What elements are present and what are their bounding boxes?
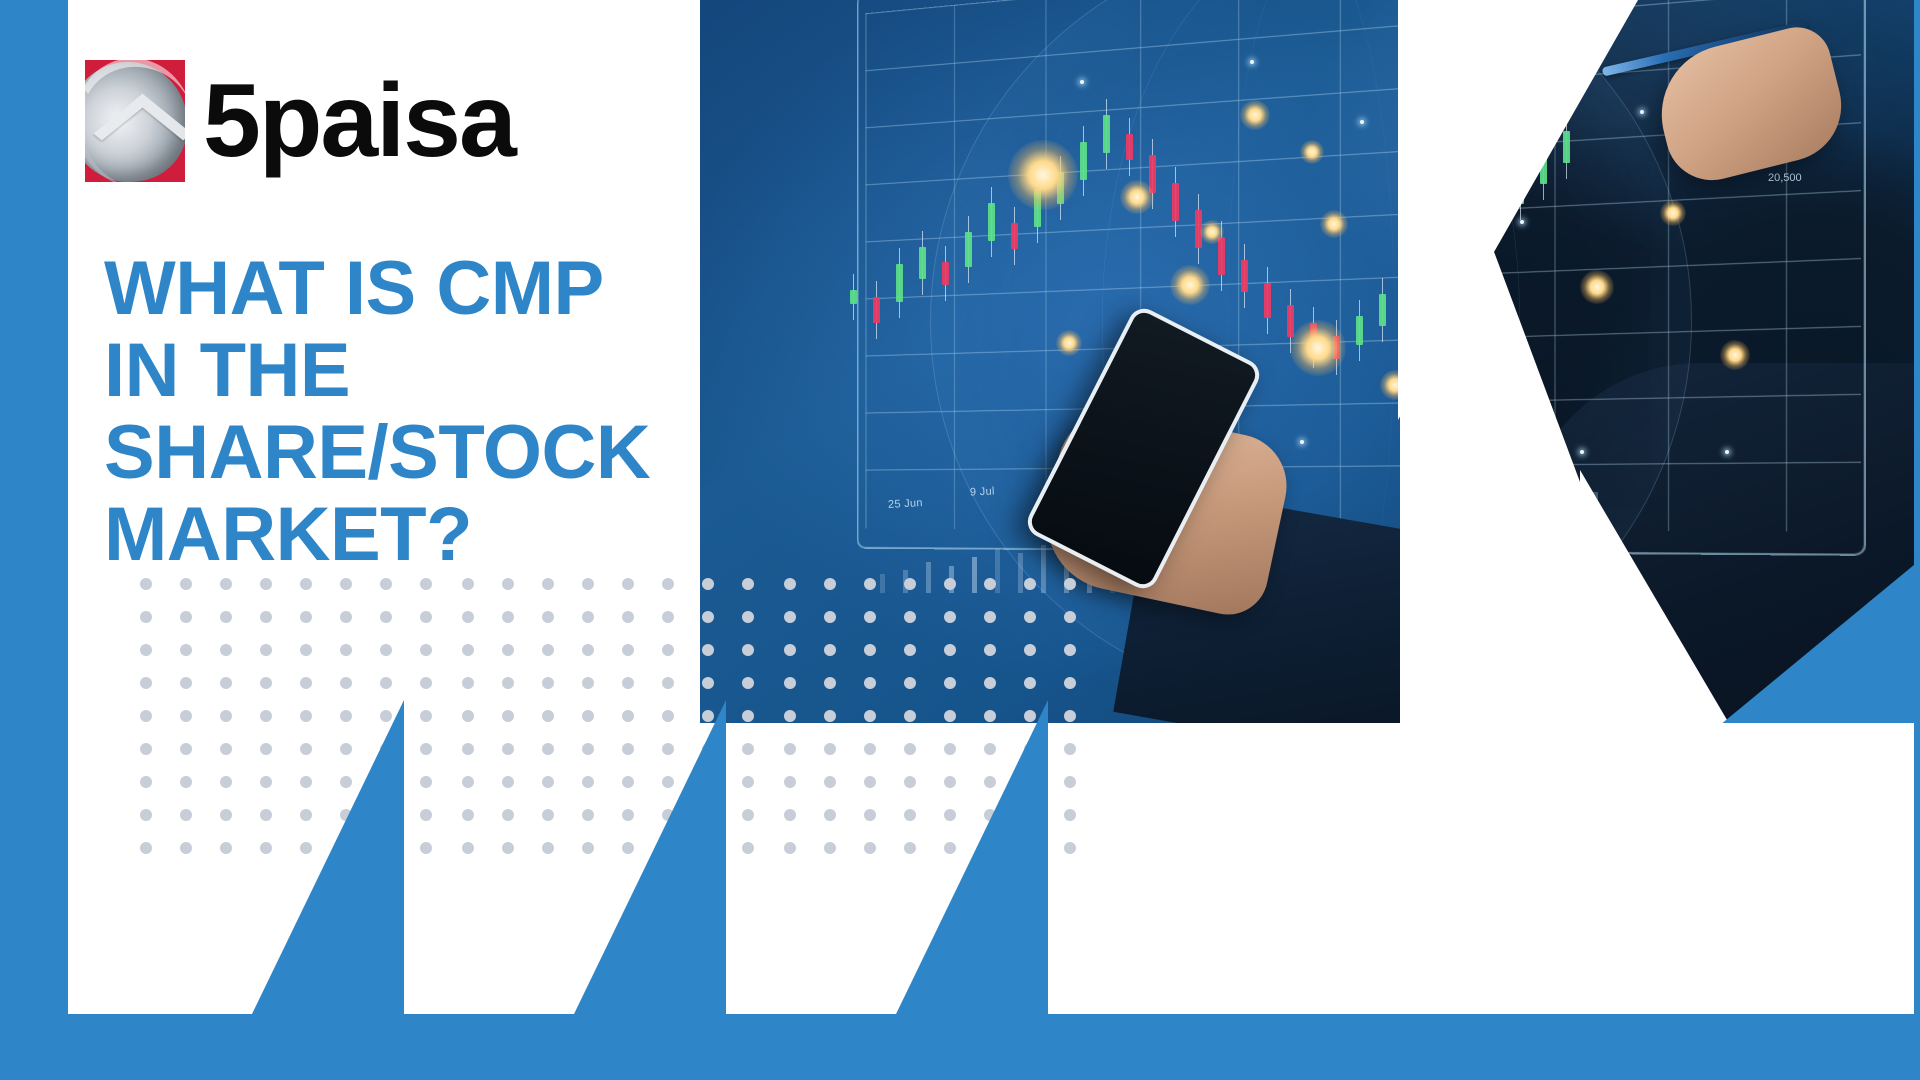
chart-glow-point bbox=[1290, 320, 1346, 376]
5paisa-logo-icon bbox=[85, 60, 185, 182]
dot bbox=[260, 776, 272, 788]
dot bbox=[502, 578, 514, 590]
dot bbox=[462, 743, 474, 755]
dot bbox=[944, 710, 956, 722]
dot bbox=[220, 677, 232, 689]
dot bbox=[340, 776, 352, 788]
candle-up bbox=[1103, 115, 1110, 153]
dot bbox=[582, 644, 594, 656]
dot bbox=[944, 842, 956, 854]
dot bbox=[582, 842, 594, 854]
dot bbox=[420, 776, 432, 788]
dot bbox=[300, 578, 312, 590]
dot bbox=[502, 743, 514, 755]
dot bbox=[140, 743, 152, 755]
candle-up bbox=[1356, 316, 1363, 345]
dot bbox=[1064, 677, 1076, 689]
dot bbox=[784, 743, 796, 755]
dot bbox=[340, 578, 352, 590]
dot bbox=[260, 842, 272, 854]
dot bbox=[904, 710, 916, 722]
dot bbox=[180, 809, 192, 821]
dot bbox=[784, 611, 796, 623]
chart-glow-point bbox=[1170, 265, 1210, 305]
hand-with-pen bbox=[1590, 10, 1890, 220]
dot bbox=[1064, 710, 1076, 722]
dot bbox=[340, 677, 352, 689]
dot bbox=[462, 677, 474, 689]
dot bbox=[864, 677, 876, 689]
dot bbox=[784, 776, 796, 788]
dot bbox=[220, 842, 232, 854]
dot bbox=[180, 611, 192, 623]
dot bbox=[300, 677, 312, 689]
dot bbox=[462, 776, 474, 788]
dot bbox=[420, 644, 432, 656]
dot bbox=[1064, 743, 1076, 755]
dot bbox=[140, 578, 152, 590]
frame-right-bar bbox=[1914, 0, 1920, 1080]
dot bbox=[380, 677, 392, 689]
dot-grid-block bbox=[140, 578, 460, 875]
dot bbox=[1064, 578, 1076, 590]
dot bbox=[984, 578, 996, 590]
dot bbox=[260, 578, 272, 590]
dot bbox=[864, 776, 876, 788]
dot bbox=[140, 710, 152, 722]
chart-glow-point bbox=[1240, 100, 1270, 130]
dot bbox=[420, 578, 432, 590]
dot bbox=[864, 611, 876, 623]
dot bbox=[944, 578, 956, 590]
dot bbox=[180, 776, 192, 788]
dot bbox=[300, 743, 312, 755]
dot bbox=[1064, 611, 1076, 623]
dot bbox=[1024, 644, 1036, 656]
chart-glow-point bbox=[1320, 210, 1348, 238]
chart-spark bbox=[1300, 440, 1304, 444]
dot bbox=[622, 809, 634, 821]
dot bbox=[904, 743, 916, 755]
dot bbox=[622, 611, 634, 623]
dot bbox=[702, 578, 714, 590]
dot bbox=[220, 644, 232, 656]
page-title-line-2: IN THE bbox=[104, 330, 864, 412]
dot bbox=[702, 710, 714, 722]
dot bbox=[824, 743, 836, 755]
dot bbox=[300, 809, 312, 821]
dot bbox=[984, 743, 996, 755]
dot bbox=[220, 743, 232, 755]
page-title-line-1: WHAT IS CMP bbox=[104, 248, 864, 330]
dot bbox=[662, 710, 674, 722]
dot bbox=[742, 677, 754, 689]
dot bbox=[260, 677, 272, 689]
dot bbox=[864, 743, 876, 755]
dot bbox=[622, 743, 634, 755]
frame-bottom-bar bbox=[0, 1014, 1920, 1080]
dot bbox=[180, 644, 192, 656]
dot bbox=[180, 842, 192, 854]
dot-grid-block bbox=[784, 578, 1104, 875]
candle-down bbox=[942, 262, 949, 285]
dot bbox=[140, 611, 152, 623]
dot bbox=[904, 677, 916, 689]
dot bbox=[1024, 578, 1036, 590]
dot bbox=[140, 809, 152, 821]
dot bbox=[864, 809, 876, 821]
dot bbox=[662, 677, 674, 689]
dot bbox=[462, 710, 474, 722]
dot bbox=[502, 644, 514, 656]
dot bbox=[340, 644, 352, 656]
dot bbox=[662, 644, 674, 656]
chart-spark bbox=[1520, 220, 1524, 224]
chart-spark bbox=[1725, 450, 1729, 454]
dot bbox=[742, 842, 754, 854]
dot bbox=[1024, 677, 1036, 689]
dot bbox=[300, 842, 312, 854]
dot bbox=[824, 611, 836, 623]
dot bbox=[260, 710, 272, 722]
dot bbox=[824, 578, 836, 590]
brand-name: 5paisa bbox=[203, 69, 515, 173]
dot bbox=[944, 776, 956, 788]
dot bbox=[420, 842, 432, 854]
dot bbox=[420, 710, 432, 722]
dot bbox=[1024, 710, 1036, 722]
dot bbox=[784, 710, 796, 722]
dot bbox=[742, 611, 754, 623]
dot bbox=[462, 578, 474, 590]
dot bbox=[380, 578, 392, 590]
dot bbox=[542, 611, 554, 623]
candle-up bbox=[919, 247, 926, 279]
dot bbox=[784, 842, 796, 854]
dot bbox=[784, 809, 796, 821]
dot bbox=[582, 743, 594, 755]
dot bbox=[220, 710, 232, 722]
dot bbox=[462, 611, 474, 623]
dot bbox=[864, 710, 876, 722]
dot bbox=[662, 743, 674, 755]
candle-down bbox=[1264, 283, 1271, 318]
dot bbox=[582, 776, 594, 788]
dot bbox=[824, 842, 836, 854]
chart-glow-point bbox=[1008, 140, 1078, 210]
dot bbox=[582, 578, 594, 590]
dot bbox=[582, 611, 594, 623]
dot bbox=[220, 776, 232, 788]
dot bbox=[502, 842, 514, 854]
dot bbox=[1064, 842, 1076, 854]
dot bbox=[622, 842, 634, 854]
dot bbox=[702, 611, 714, 623]
dot bbox=[420, 677, 432, 689]
dot bbox=[340, 710, 352, 722]
dot bbox=[824, 710, 836, 722]
candle-down bbox=[873, 297, 880, 323]
dot bbox=[180, 743, 192, 755]
frame-left-bar bbox=[0, 0, 68, 1080]
dot bbox=[864, 842, 876, 854]
dot bbox=[622, 644, 634, 656]
dot bbox=[904, 776, 916, 788]
candle-down bbox=[1241, 260, 1248, 292]
candle-down bbox=[1287, 305, 1294, 337]
candle-down bbox=[1011, 223, 1018, 249]
dot bbox=[662, 611, 674, 623]
chart-spark bbox=[1080, 80, 1084, 84]
dot bbox=[662, 776, 674, 788]
page-title-line-4: MARKET? bbox=[104, 494, 864, 576]
dot bbox=[742, 710, 754, 722]
chart-glow-point bbox=[1720, 340, 1750, 370]
dot bbox=[300, 710, 312, 722]
dot bbox=[742, 809, 754, 821]
dot bbox=[542, 776, 554, 788]
dot bbox=[742, 776, 754, 788]
dot bbox=[662, 578, 674, 590]
dot bbox=[702, 644, 714, 656]
brand-lockup: 5paisa bbox=[85, 60, 515, 182]
dot bbox=[904, 842, 916, 854]
dot bbox=[622, 677, 634, 689]
candle-down bbox=[1126, 134, 1133, 160]
dot bbox=[864, 578, 876, 590]
dot bbox=[944, 677, 956, 689]
dot bbox=[180, 710, 192, 722]
dot bbox=[260, 611, 272, 623]
dot bbox=[502, 710, 514, 722]
dot bbox=[784, 578, 796, 590]
candle-up bbox=[896, 264, 903, 302]
chart-glow-point bbox=[1200, 220, 1224, 244]
chart-glow-point bbox=[1580, 270, 1614, 304]
dot bbox=[462, 842, 474, 854]
dot bbox=[622, 710, 634, 722]
dot bbox=[420, 611, 432, 623]
dot bbox=[220, 809, 232, 821]
dot bbox=[180, 578, 192, 590]
upper-hand bbox=[1647, 20, 1853, 190]
dot bbox=[542, 677, 554, 689]
page-title: WHAT IS CMP IN THE SHARE/STOCK MARKET? bbox=[104, 248, 864, 576]
dot bbox=[784, 677, 796, 689]
dot bbox=[984, 644, 996, 656]
dot bbox=[984, 611, 996, 623]
dot bbox=[582, 809, 594, 821]
candle-up bbox=[988, 203, 995, 241]
candle-up bbox=[1563, 131, 1570, 163]
candle-up bbox=[965, 232, 972, 267]
dot bbox=[300, 644, 312, 656]
dot bbox=[300, 776, 312, 788]
page-title-line-3: SHARE/STOCK bbox=[104, 412, 864, 494]
chart-glow-point bbox=[1300, 140, 1324, 164]
x-axis-tick-label: 9 Jul bbox=[970, 485, 995, 498]
dot bbox=[582, 677, 594, 689]
dot bbox=[944, 809, 956, 821]
dot bbox=[542, 743, 554, 755]
dot-grid-block bbox=[462, 578, 782, 875]
dot bbox=[904, 578, 916, 590]
dot bbox=[702, 677, 714, 689]
dot bbox=[904, 644, 916, 656]
dot bbox=[502, 677, 514, 689]
candle-down bbox=[1172, 183, 1179, 221]
dot bbox=[742, 743, 754, 755]
chart-spark bbox=[1580, 450, 1584, 454]
dot bbox=[542, 710, 554, 722]
chart-spark bbox=[1250, 60, 1254, 64]
dot bbox=[742, 578, 754, 590]
dot bbox=[864, 644, 876, 656]
dot bbox=[420, 809, 432, 821]
chart-glow-point bbox=[1056, 330, 1082, 356]
dot bbox=[502, 809, 514, 821]
dot bbox=[824, 677, 836, 689]
x-axis-tick-label: 25 Jun bbox=[888, 497, 923, 511]
dot bbox=[140, 644, 152, 656]
poster-canvas: 25 Jun9 Jul23 Jul6 Aug21 Aug20,500 5pais… bbox=[0, 0, 1920, 1080]
chart-glow-point bbox=[1120, 180, 1154, 214]
dot bbox=[984, 677, 996, 689]
dot bbox=[180, 677, 192, 689]
dot bbox=[1064, 776, 1076, 788]
dot bbox=[462, 809, 474, 821]
dot bbox=[502, 776, 514, 788]
dot bbox=[380, 644, 392, 656]
dot bbox=[140, 677, 152, 689]
candle-up bbox=[1080, 142, 1087, 180]
dot bbox=[824, 809, 836, 821]
dot bbox=[220, 578, 232, 590]
dot bbox=[340, 743, 352, 755]
candle-up bbox=[1379, 294, 1386, 326]
dot bbox=[260, 644, 272, 656]
dot bbox=[984, 776, 996, 788]
dot bbox=[784, 644, 796, 656]
dot bbox=[380, 611, 392, 623]
dot bbox=[904, 611, 916, 623]
gridline-horizontal bbox=[866, 462, 1861, 471]
dot bbox=[824, 776, 836, 788]
dot bbox=[944, 743, 956, 755]
dot bbox=[1064, 809, 1076, 821]
dot bbox=[220, 611, 232, 623]
dot bbox=[742, 644, 754, 656]
dot bbox=[984, 710, 996, 722]
dot bbox=[140, 776, 152, 788]
dot bbox=[542, 809, 554, 821]
dot bbox=[824, 644, 836, 656]
dot bbox=[1024, 611, 1036, 623]
dot bbox=[420, 743, 432, 755]
dot bbox=[542, 644, 554, 656]
dot bbox=[542, 578, 554, 590]
dot bbox=[904, 809, 916, 821]
dot bbox=[260, 809, 272, 821]
dot bbox=[300, 611, 312, 623]
dot bbox=[622, 776, 634, 788]
dot bbox=[340, 611, 352, 623]
dot bbox=[1064, 644, 1076, 656]
dot bbox=[622, 578, 634, 590]
dot bbox=[140, 842, 152, 854]
dot bbox=[944, 611, 956, 623]
candle-down bbox=[1218, 237, 1225, 275]
dot bbox=[462, 644, 474, 656]
dot bbox=[582, 710, 594, 722]
dot bbox=[260, 743, 272, 755]
dot bbox=[502, 611, 514, 623]
dot bbox=[380, 710, 392, 722]
dot bbox=[542, 842, 554, 854]
chart-spark bbox=[1360, 120, 1364, 124]
dot bbox=[944, 644, 956, 656]
